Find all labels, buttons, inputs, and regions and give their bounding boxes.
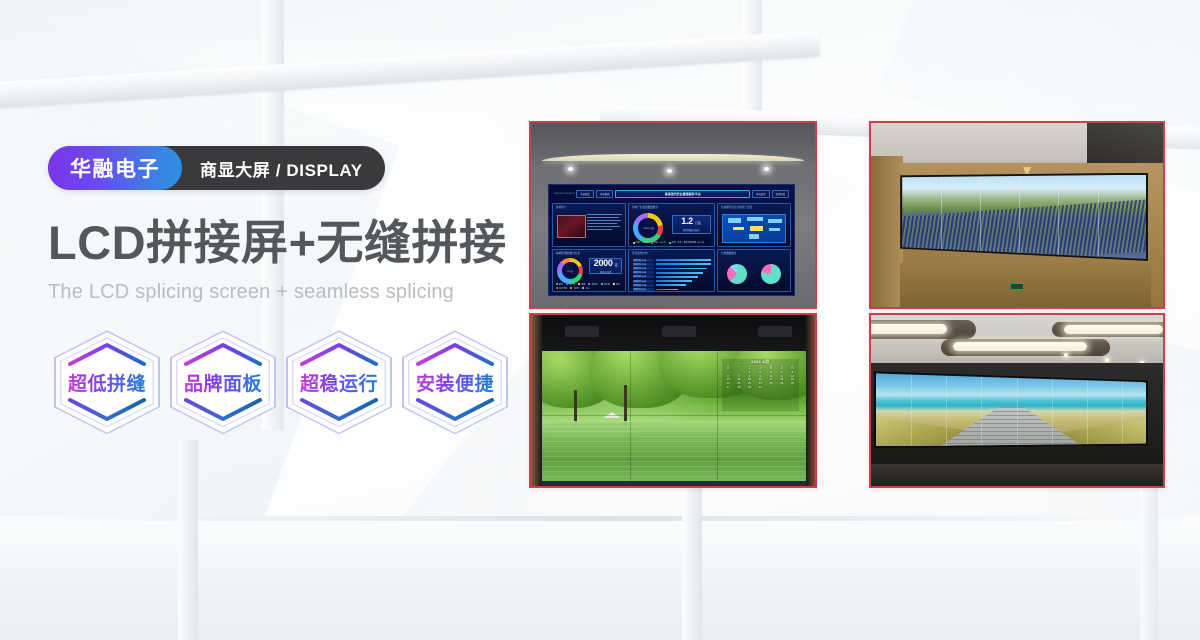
feature-label: 安装便捷 (416, 369, 494, 396)
panel-seam (946, 373, 947, 446)
dashboard-card-header: 分类数据统计 (721, 251, 737, 255)
kpi-caption: 基地种植总面积 (683, 228, 700, 232)
bar-row: 监测点位 7/96 (633, 284, 711, 287)
tree-trunk (624, 385, 627, 427)
dashboard-card-header: 环境监测分布 (632, 251, 648, 255)
legend-item: 经济作物 (556, 287, 567, 290)
calendar-day: 22 (744, 382, 754, 385)
pie-chart-group (721, 261, 787, 287)
video-wall-bezel (900, 173, 1148, 261)
pie-chart (727, 264, 747, 284)
headline-block: 华融电子 商显大屏 / DISPLAY LCD拼接屏+无缝拼接 The LCD … (48, 146, 528, 438)
feature-badge-0: 超低拼缝 (48, 326, 166, 438)
screen-left-bezel (531, 315, 542, 486)
calendar-day: 3 (766, 371, 776, 374)
panel-seam (1058, 175, 1059, 259)
calendar-day: 20 (723, 382, 733, 385)
dashboard-card-header: 基地产业发展数据统计 (632, 205, 658, 209)
calendar-day: 21 (734, 382, 744, 385)
legend-item: 水产类 (566, 283, 575, 286)
screen-top-bezel (531, 315, 815, 351)
legend-item: 油料类 (588, 283, 597, 286)
donut-center-label: 8.2 万 (557, 269, 583, 273)
feature-label: 超低拼缝 (68, 369, 146, 396)
screen-right-bezel (806, 315, 815, 486)
feature-label: 品牌面板 (184, 369, 262, 396)
beach-boardwalk (935, 407, 1086, 446)
dashboard-nav-item[interactable]: 环境数据 (596, 190, 614, 198)
calendar-day: 29 (744, 386, 754, 389)
background-pillar (178, 440, 198, 640)
calendar-day (723, 371, 733, 374)
dashboard-nav-item[interactable]: 管理系统 (772, 190, 790, 198)
chevron-down-icon (300, 398, 378, 422)
dashboard-kpi: 2000 亩 种植总亩数 (589, 258, 622, 275)
panel-seam (981, 373, 982, 446)
kpi-caption: 种植总亩数 (600, 270, 612, 274)
panel-seam (1019, 175, 1020, 259)
calendar-day (734, 371, 744, 374)
chevron-down-icon (68, 398, 146, 422)
room-ceiling (531, 123, 815, 175)
calendar-day: 2 (755, 371, 765, 374)
wood-wall-left (871, 156, 903, 307)
calendar-day: 25 (777, 382, 787, 385)
feature-badge-1: 品牌面板 (164, 326, 282, 438)
panel-seam (542, 415, 806, 416)
feature-label: 超稳运行 (300, 369, 378, 396)
calendar-day: 23 (755, 382, 765, 385)
calendar-days: 1234567891011121314151617181920212223242… (722, 370, 799, 390)
feature-list: 超低拼缝 品牌面板 (48, 326, 528, 438)
promo-banner: 华融电子 商显大屏 / DISPLAY LCD拼接屏+无缝拼接 The LCD … (0, 0, 1200, 640)
panel-seam (1087, 373, 1088, 446)
chart-legend: 粮食 水产类 果蔬 油料类 饲料类 茶叶 经济作物 中药材 苗木 (556, 283, 622, 290)
legend-item: 中药材 (570, 287, 579, 290)
brand-badge-name: 华融电子 (48, 146, 182, 190)
lake-water-reflection (542, 421, 806, 481)
ceiling-light-strip (953, 342, 1087, 351)
background-floor-edge (0, 516, 1200, 521)
legend-item: 养殖 : 210 亩 (651, 241, 666, 244)
dashboard-nav-item[interactable]: 系统概览 (576, 190, 594, 198)
calendar-day (777, 386, 787, 389)
wood-cabinet (900, 263, 1151, 307)
kpi-unit: 亩 (615, 263, 618, 267)
brand-badge-category: 商显大屏 / DISPLAY (182, 146, 385, 190)
bar-row: 监测点位 6/96 (633, 280, 711, 283)
bar-row: 监测点位 8/96 (633, 288, 711, 291)
dashboard-card-flow: 生态循环农业与绿色产业链 (717, 203, 791, 246)
brand-badge: 华融电子 商显大屏 / DISPLAY (48, 146, 385, 190)
video-wall-screen (876, 373, 1146, 446)
bezel-vent (662, 326, 696, 337)
bar-row: 监测点位 4/96 (633, 271, 711, 274)
calendar-day (787, 386, 797, 389)
background-beam (0, 30, 820, 111)
product-photo-lobby-wall (869, 313, 1165, 488)
feature-badge-3: 安装便捷 (396, 326, 514, 438)
kpi-unit: 万亩 (695, 221, 701, 225)
dashboard-card-monitoring: 环境监测分布 监测点位 1/96 监测点位 2/96 监测点位 3/96 监测点… (628, 249, 715, 292)
video-wall-screen: 2021 6月 日一 二三 四五 六 123456789101112131415… (542, 351, 806, 481)
ceiling-light-strip (871, 324, 947, 334)
panel-seam (1122, 373, 1123, 446)
dashboard-timestamp: 2021-09-13 10:51:27 (554, 193, 574, 195)
bar-row: 监测点位 3/96 (633, 267, 711, 270)
calendar-day: 30 (755, 386, 765, 389)
bezel-vent (758, 326, 792, 337)
chart-legend: 种植 : 120 亩 养殖 : 210 亩 其他 : 农业、畜牧种植规模 100… (633, 241, 711, 244)
calendar-day: 1 (744, 371, 754, 374)
dashboard-card-pies: 分类数据统计 (717, 249, 791, 292)
dashboard-nav-item[interactable]: 环境监测 (752, 190, 770, 198)
bar-list-chart: 监测点位 1/96 监测点位 2/96 监测点位 3/96 监测点位 4/96 … (633, 259, 711, 290)
legend-item: 种植 : 120 亩 (633, 241, 648, 244)
bar-row: 监测点位 1/96 (633, 259, 711, 262)
calendar-overlay: 2021 6月 日一 二三 四五 六 123456789101112131415… (722, 359, 799, 411)
chevron-up-icon (416, 342, 494, 366)
legend-item: 苗木 (582, 287, 589, 290)
dashboard-row-bottom: 种植区/规模统计分析 8.2 万 2000 亩 种植总亩数 (552, 249, 791, 292)
chevron-up-icon (300, 342, 378, 366)
background-floor (0, 520, 1200, 640)
kpi-value: 2000 (594, 259, 613, 268)
dashboard-card-intro: 基地简介 (552, 203, 626, 246)
bar-row: 监测点位 2/96 (633, 263, 711, 266)
exit-sign-icon (1010, 283, 1024, 290)
calendar-day: 28 (734, 386, 744, 389)
dashboard-kpi: 1.2 万亩 基地种植总面积 (672, 215, 711, 234)
chevron-down-icon (184, 398, 262, 422)
pie-chart (761, 264, 781, 284)
product-photo-garden-wall: 2021 6月 日一 二三 四五 六 123456789101112131415… (529, 313, 817, 488)
dashboard-topbar: 2021-09-13 10:51:27 系统概览 环境数据 某县现代农业管理服务… (552, 188, 791, 202)
dashboard-card-header: 基地简介 (556, 205, 566, 209)
ceiling-cove-light (542, 154, 803, 161)
donut-center-label: 72001.0 亩 (633, 226, 663, 230)
dashboard-card-header: 生态循环农业与绿色产业链 (721, 205, 752, 209)
video-wall-screen (902, 175, 1146, 259)
calendar-day: 26 (787, 382, 797, 385)
legend-item: 果蔬 (578, 283, 585, 286)
ceiling-spotlight (1105, 358, 1109, 362)
panel-seam (980, 175, 981, 259)
panel-seam (630, 351, 631, 481)
ceiling-light-strip (1064, 325, 1163, 334)
calendar-day (766, 386, 776, 389)
dashboard-thumbnail (557, 215, 586, 238)
chevron-up-icon (68, 342, 146, 366)
panel-seam (911, 373, 912, 446)
dashboard-row-top: 基地简介 基地产业发展数据统计 72001.0 亩 (552, 203, 791, 246)
dashboard-card-planting: 种植区/规模统计分析 8.2 万 2000 亩 种植总亩数 (552, 249, 626, 292)
video-wall-bezel (874, 371, 1148, 448)
donut-chart: 8.2 万 (557, 258, 583, 284)
panel-seam (1098, 175, 1099, 259)
legend-item: 茶叶 (613, 283, 620, 286)
feature-badge-2: 超稳运行 (280, 326, 398, 438)
dashboard-card-industry: 基地产业发展数据统计 72001.0 亩 1.2 万亩 基地种植总面积 (628, 203, 715, 246)
legend-item: 其他 : 农业、畜牧种植规模 1000 亩 (669, 241, 704, 244)
panel-seam (941, 175, 942, 259)
chevron-up-icon (184, 342, 262, 366)
panel-seam (1052, 373, 1053, 446)
video-wall-screen: 2021-09-13 10:51:27 系统概览 环境数据 某县现代农业管理服务… (548, 184, 795, 296)
page-title: LCD拼接屏+无缝拼接 (48, 218, 528, 267)
product-photo-solar-wall (869, 121, 1165, 309)
legend-item: 饲料类 (601, 283, 610, 286)
dashboard-text-lines (587, 214, 622, 231)
legend-item: 粮食 (556, 283, 563, 286)
calendar-day: 27 (723, 386, 733, 389)
donut-chart: 72001.0 亩 (633, 213, 663, 243)
bar-row: 监测点位 5/96 (633, 275, 711, 278)
lobby-floor (871, 464, 1163, 486)
chevron-down-icon (416, 398, 494, 422)
page-subtitle: The LCD splicing screen + seamless splic… (48, 281, 528, 304)
bezel-vent (565, 326, 599, 337)
calendar-day: 24 (766, 382, 776, 385)
panel-seam (1017, 373, 1018, 446)
flow-diagram (722, 214, 787, 243)
ceiling-spotlight (1064, 353, 1068, 357)
product-photo-dashboard: 2021-09-13 10:51:27 系统概览 环境数据 某县现代农业管理服务… (529, 121, 817, 309)
solar-panel-rows (902, 199, 1146, 259)
panel-seam (717, 351, 718, 481)
kpi-value: 1.2 (681, 217, 693, 226)
calendar-day: 5 (787, 371, 797, 374)
dashboard-card-header: 种植区/规模统计分析 (556, 251, 580, 255)
dashboard-title: 某县现代农业管理服务平台 (615, 190, 750, 198)
calendar-day: 4 (777, 371, 787, 374)
